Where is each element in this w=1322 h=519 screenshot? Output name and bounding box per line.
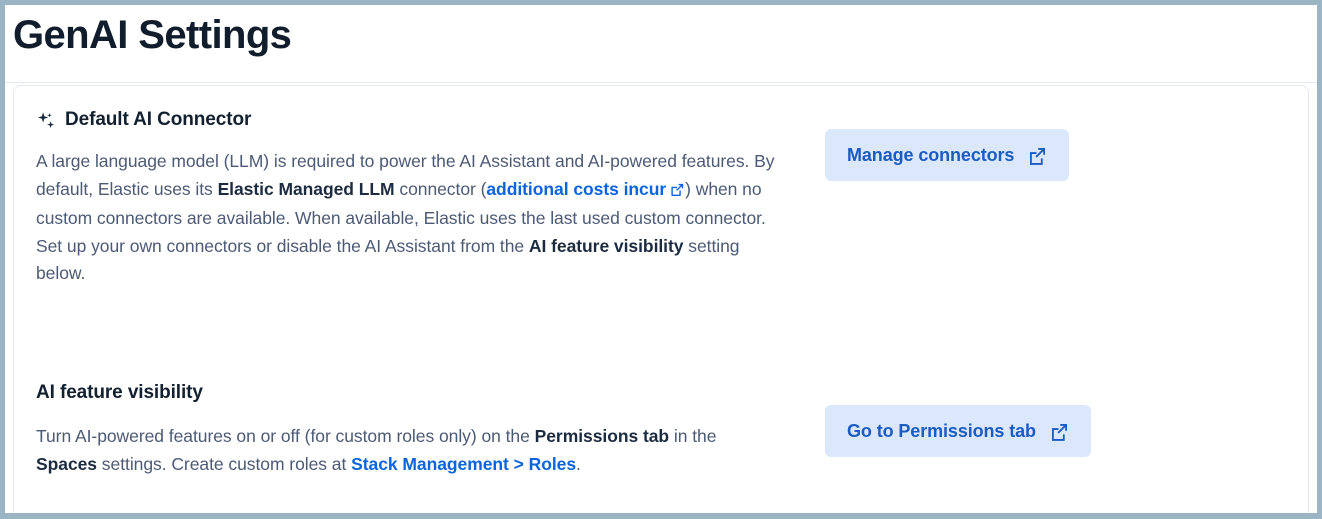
visibility-desc-bold-spaces: Spaces [36,454,97,474]
app-viewport: GenAI Settings [0,0,1322,519]
manage-connectors-button[interactable]: Manage connectors [825,129,1069,181]
visibility-action-column: Go to Permissions tab [825,405,1091,457]
visibility-heading-label: AI feature visibility [36,382,203,403]
external-link-icon [1049,422,1069,442]
visibility-text-column: AI feature visibility Turn AI-powered fe… [36,381,776,496]
visibility-desc-bold-permissions-tab: Permissions tab [535,426,669,446]
sparkles-icon [36,111,56,131]
default-ai-connector-section: Default AI Connector A large language mo… [14,108,1308,348]
page-header: GenAI Settings [5,5,1317,83]
ai-feature-visibility-section: AI feature visibility Turn AI-powered fe… [14,381,1308,501]
connector-description: A large language model (LLM) is required… [36,148,776,288]
connector-desc-bold-feature-visibility: AI feature visibility [529,236,684,256]
stack-management-roles-link[interactable]: Stack Management > Roles [351,454,576,474]
visibility-description: Turn AI-powered features on or off (for … [36,423,776,478]
visibility-desc-part3: settings. Create custom roles at [97,454,351,474]
connector-section-heading: Default AI Connector [36,108,776,132]
connector-action-column: Manage connectors [825,129,1069,181]
external-link-icon [670,178,685,206]
additional-costs-link-label: additional costs incur [486,179,666,199]
go-to-permissions-tab-button-label: Go to Permissions tab [847,421,1036,442]
genai-settings-card: Default AI Connector A large language mo… [13,85,1309,519]
go-to-permissions-tab-button[interactable]: Go to Permissions tab [825,405,1091,457]
connector-text-column: Default AI Connector A large language mo… [36,108,776,305]
page-title: GenAI Settings [13,9,291,61]
visibility-section-heading: AI feature visibility [36,381,776,405]
manage-connectors-button-label: Manage connectors [847,145,1014,166]
visibility-desc-part4: . [576,454,581,474]
external-link-icon [1027,146,1047,166]
visibility-desc-part2: in the [669,426,716,446]
connector-desc-bold-managed-llm: Elastic Managed LLM [218,179,395,199]
connector-desc-part2: connector ( [395,179,487,199]
connector-heading-label: Default AI Connector [65,108,251,132]
additional-costs-link[interactable]: additional costs incur [486,179,685,199]
visibility-desc-part1: Turn AI-powered features on or off (for … [36,426,535,446]
